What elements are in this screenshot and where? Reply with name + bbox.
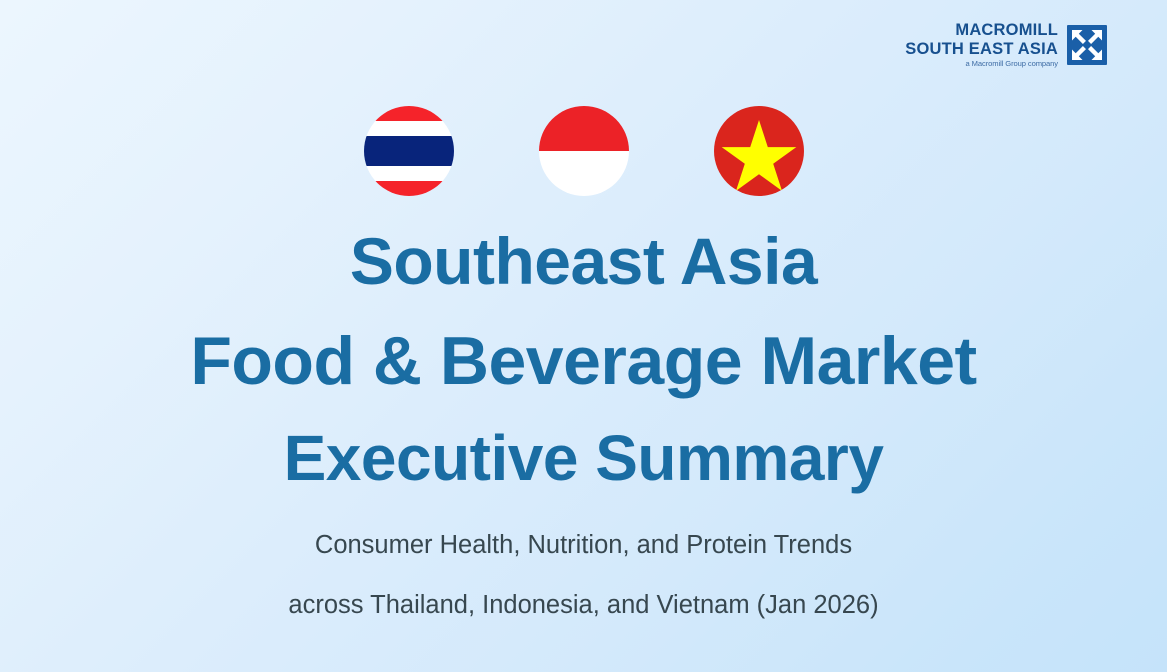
title-line-3: Executive Summary — [0, 426, 1167, 490]
vn-yellow-star — [721, 120, 796, 191]
title-slide: MACROMILL SOUTH EAST ASIA a Macromill Gr… — [0, 0, 1167, 672]
th-stripe-blue — [364, 136, 454, 166]
id-half-red — [539, 106, 629, 151]
country-flag-row — [0, 106, 1167, 196]
th-stripe-red-top — [364, 106, 454, 121]
th-stripe-white-bottom — [364, 166, 454, 181]
macromill-four-arrows-mark-icon — [1067, 25, 1107, 65]
page-subtitle: Consumer Health, Nutrition, and Protein … — [0, 533, 1167, 618]
id-half-white — [539, 151, 629, 196]
logo-wordmark: MACROMILL SOUTH EAST ASIA a Macromill Gr… — [905, 22, 1058, 68]
title-line-1: Southeast Asia — [0, 228, 1167, 294]
indonesia-flag-icon — [539, 106, 629, 196]
logo-line-south-east-asia: SOUTH EAST ASIA — [905, 40, 1058, 57]
title-line-2: Food & Beverage Market — [0, 327, 1167, 395]
vietnam-flag-icon — [714, 106, 804, 196]
page-title: Southeast Asia Food & Beverage Market Ex… — [0, 228, 1167, 490]
thailand-flag-icon — [364, 106, 454, 196]
subtitle-line-1: Consumer Health, Nutrition, and Protein … — [0, 533, 1167, 559]
th-stripe-red-bottom — [364, 181, 454, 196]
macromill-logo: MACROMILL SOUTH EAST ASIA a Macromill Gr… — [905, 22, 1107, 68]
logo-tagline: a Macromill Group company — [966, 60, 1058, 68]
th-stripe-white-top — [364, 121, 454, 136]
logo-line-macromill: MACROMILL — [955, 22, 1058, 39]
subtitle-line-2: across Thailand, Indonesia, and Vietnam … — [0, 593, 1167, 619]
